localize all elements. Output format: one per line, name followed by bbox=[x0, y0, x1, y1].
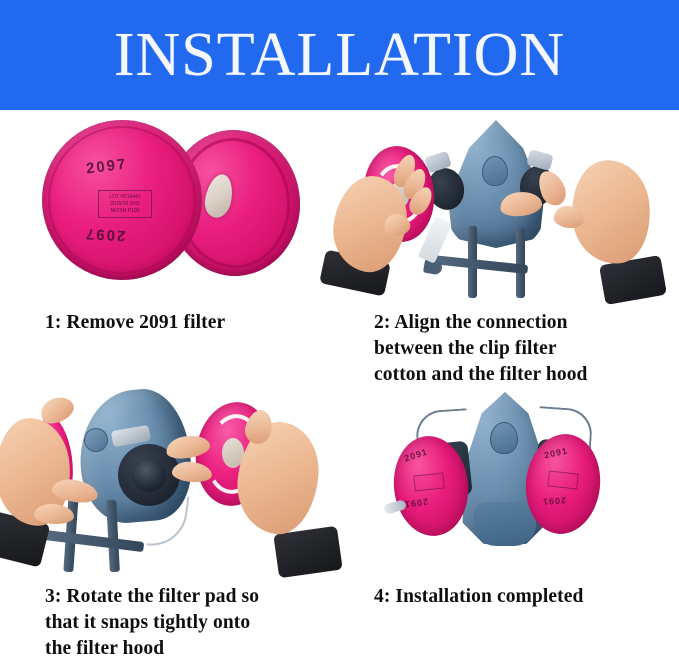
page-title: INSTALLATION bbox=[114, 24, 565, 86]
caption-line: 4: Installation completed bbox=[374, 584, 671, 610]
mask-nose-valve bbox=[490, 422, 518, 454]
mask-chin-section bbox=[474, 502, 536, 546]
step-4: 2091 2091 2091 2091 4: Installation comp… bbox=[340, 384, 679, 658]
filter-fine-print-right bbox=[547, 470, 579, 489]
fine-print-line-1: LOT H210441 bbox=[109, 194, 140, 201]
head-strap-horizontal bbox=[432, 255, 528, 274]
step-4-caption: 4: Installation completed bbox=[340, 584, 679, 610]
installation-infographic: INSTALLATION 2097 2097 LOT H210441 2015/… bbox=[0, 0, 679, 658]
fine-print-line-2: 2015/10 DN1 bbox=[110, 201, 139, 208]
step-2: 2: Align the connection between the clip… bbox=[340, 110, 679, 384]
filter-hood-inner bbox=[132, 458, 166, 492]
step-3: 3: Rotate the filter pad so that it snap… bbox=[0, 384, 340, 658]
fine-print-line-3: NIOSH P100 bbox=[111, 208, 140, 215]
filter-label-number-bottom: 2097 bbox=[84, 225, 126, 244]
neck-cord bbox=[146, 492, 189, 550]
caption-line: that it snaps tightly onto bbox=[45, 610, 332, 636]
caption-line: 3: Rotate the filter pad so bbox=[45, 584, 332, 610]
step-1-caption: 1: Remove 2091 filter bbox=[0, 310, 340, 336]
head-strap-c bbox=[44, 530, 144, 552]
step-3-figure bbox=[0, 384, 340, 584]
step-2-figure bbox=[340, 110, 679, 310]
filter-label-right-bottom: 2091 bbox=[542, 495, 567, 507]
caption-line: 2: Align the connection bbox=[374, 310, 671, 336]
header-banner: INSTALLATION bbox=[0, 0, 679, 110]
step-4-figure: 2091 2091 2091 2091 bbox=[340, 384, 679, 584]
step-2-caption: 2: Align the connection between the clip… bbox=[340, 310, 679, 388]
step-1: 2097 2097 LOT H210441 2015/10 DN1 NIOSH … bbox=[0, 110, 340, 384]
filter-fine-print-left bbox=[413, 472, 445, 491]
step-1-figure: 2097 2097 LOT H210441 2015/10 DN1 NIOSH … bbox=[0, 110, 340, 310]
step-3-caption: 3: Rotate the filter pad so that it snap… bbox=[0, 584, 340, 658]
steps-grid: 2097 2097 LOT H210441 2015/10 DN1 NIOSH … bbox=[0, 110, 679, 658]
mask-nose-valve bbox=[482, 156, 508, 186]
caption-line: 1: Remove 2091 filter bbox=[45, 310, 332, 336]
filter-fine-print-box: LOT H210441 2015/10 DN1 NIOSH P100 bbox=[98, 190, 152, 218]
caption-line: between the clip filter bbox=[374, 336, 671, 362]
caption-line: the filter hood bbox=[45, 636, 332, 658]
